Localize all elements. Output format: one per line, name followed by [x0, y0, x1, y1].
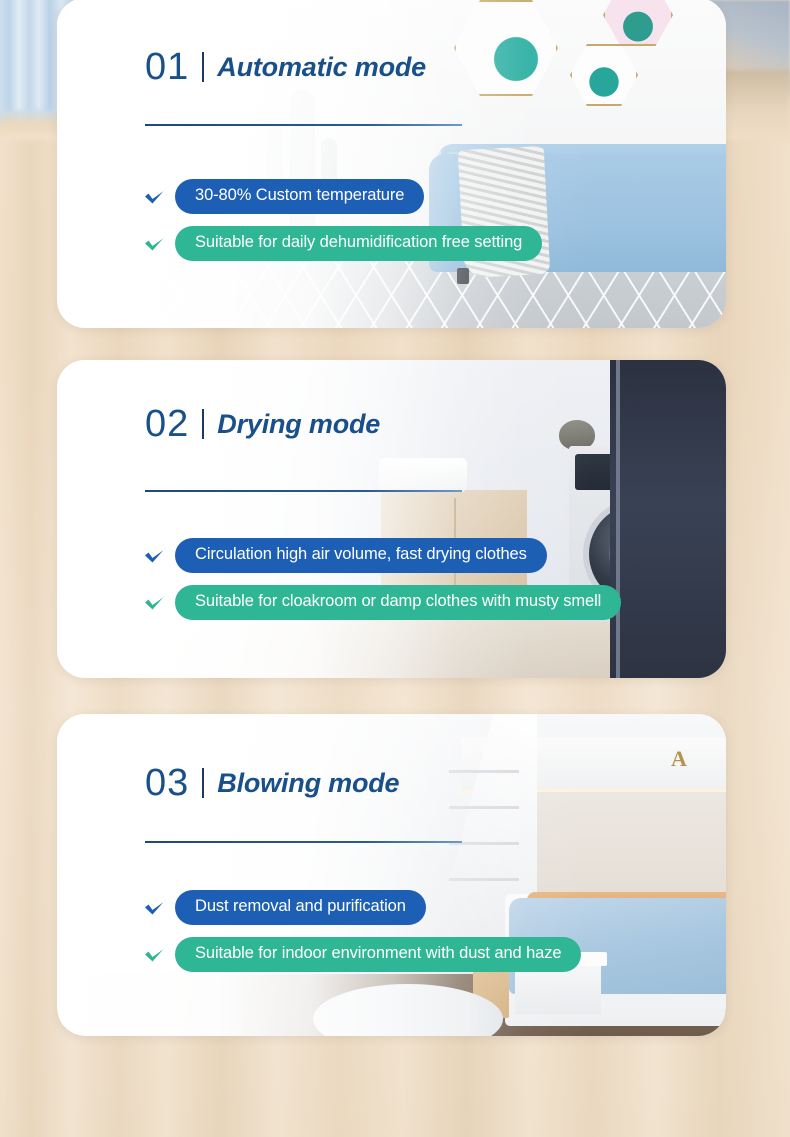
card-content: 03 Blowing mode Dust removal and purific…	[57, 714, 726, 1036]
check-icon	[141, 181, 171, 211]
card-header: 02 Drying mode	[145, 405, 380, 443]
card-number: 01	[145, 48, 189, 86]
feature-pill: Suitable for daily dehumidification free…	[175, 226, 542, 261]
card-header: 01 Automatic mode	[145, 48, 426, 86]
mode-card-automatic[interactable]: 01 Automatic mode 30-80% Custom temperat…	[57, 0, 726, 328]
check-icon	[141, 587, 171, 617]
card-divider	[145, 124, 462, 126]
feature-item[interactable]: Circulation high air volume, fast drying…	[141, 538, 621, 573]
feature-pill: 30-80% Custom temperature	[175, 179, 424, 214]
card-content: 02 Drying mode Circulation high air volu…	[57, 360, 726, 678]
card-title: Automatic mode	[217, 54, 426, 81]
feature-pill: Circulation high air volume, fast drying…	[175, 538, 547, 573]
card-divider	[145, 841, 462, 843]
feature-pill: Dust removal and purification	[175, 890, 426, 925]
feature-list: Circulation high air volume, fast drying…	[141, 538, 621, 620]
check-icon	[141, 939, 171, 969]
card-divider	[145, 490, 462, 492]
feature-item[interactable]: Suitable for cloakroom or damp clothes w…	[141, 585, 621, 620]
feature-item[interactable]: 30-80% Custom temperature	[141, 179, 542, 214]
header-separator	[202, 409, 204, 439]
check-icon	[141, 892, 171, 922]
card-header: 03 Blowing mode	[145, 764, 399, 802]
header-separator	[202, 52, 204, 82]
card-content: 01 Automatic mode 30-80% Custom temperat…	[57, 0, 726, 328]
feature-item[interactable]: Suitable for daily dehumidification free…	[141, 226, 542, 261]
mode-card-drying[interactable]: 02 Drying mode Circulation high air volu…	[57, 360, 726, 678]
feature-item[interactable]: Suitable for indoor environment with dus…	[141, 937, 581, 972]
card-title: Drying mode	[217, 411, 380, 438]
card-number: 02	[145, 405, 189, 443]
feature-pill: Suitable for cloakroom or damp clothes w…	[175, 585, 621, 620]
header-separator	[202, 768, 204, 798]
feature-list: 30-80% Custom temperature Suitable for d…	[141, 179, 542, 261]
card-title: Blowing mode	[217, 770, 399, 797]
card-number: 03	[145, 764, 189, 802]
check-icon	[141, 540, 171, 570]
infographic-page: 01 Automatic mode 30-80% Custom temperat…	[0, 0, 790, 1137]
check-icon	[141, 228, 171, 258]
feature-list: Dust removal and purification Suitable f…	[141, 890, 581, 972]
mode-card-blowing[interactable]: A 03 Blowing mode	[57, 714, 726, 1036]
feature-pill: Suitable for indoor environment with dus…	[175, 937, 581, 972]
feature-item[interactable]: Dust removal and purification	[141, 890, 581, 925]
